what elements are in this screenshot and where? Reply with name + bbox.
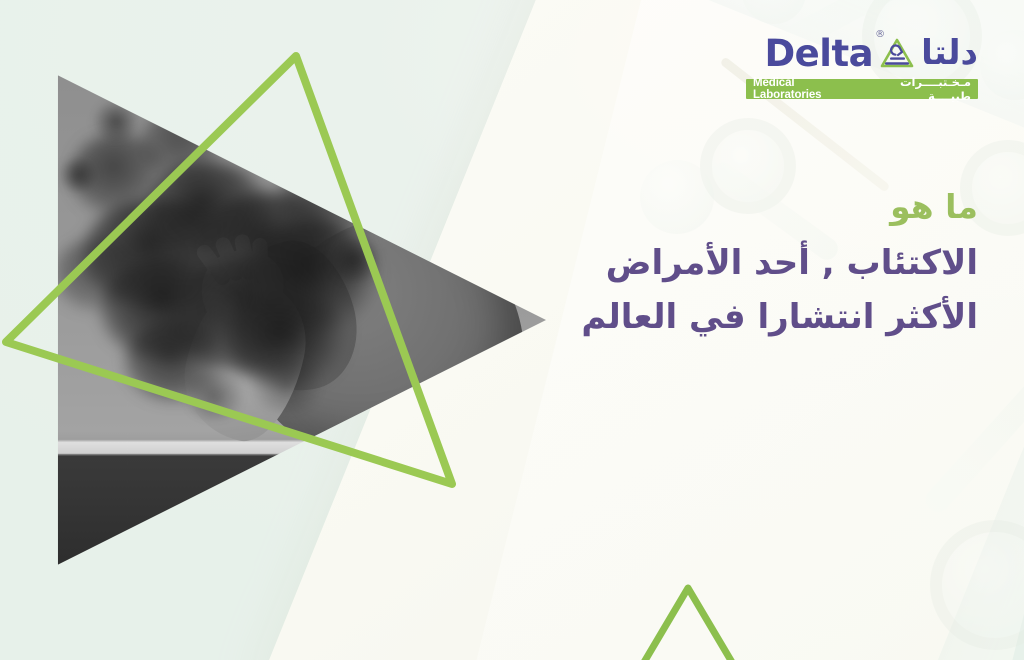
smoke-wisp [244, 358, 330, 412]
headline-pre: ما هو [318, 186, 978, 227]
logo-tagline-bar: Medical Laboratories مـخـتبــــرات طبيــ… [746, 79, 978, 99]
triangle-microscope-icon: ® [877, 33, 917, 73]
logo-tagline-en: Medical Laboratories [753, 77, 860, 101]
headline-block: ما هو الاكتئاب , أحد الأمراض الأكثر انتش… [318, 186, 978, 345]
logo-brand-en: Delta [764, 35, 873, 72]
corner-green-triangle-icon [612, 578, 772, 660]
headline-line-1: الاكتئاب , أحد الأمراض [318, 237, 978, 291]
headline-line-2: الأكثر انتشارا في العالم [318, 291, 978, 345]
registered-mark: ® [875, 30, 885, 40]
delta-logo[interactable]: Delta ® دلتا Medical Laboratories مـخـتب… [746, 30, 978, 99]
smoke-wisp [178, 372, 250, 420]
logo-brand-ar: دلتا [921, 36, 978, 70]
smoke-wisp [56, 158, 100, 192]
poster-canvas: Delta ® دلتا Medical Laboratories مـخـتب… [0, 0, 1024, 660]
logo-tagline-ar: مـخـتبــــرات طبيــــة [860, 75, 971, 103]
